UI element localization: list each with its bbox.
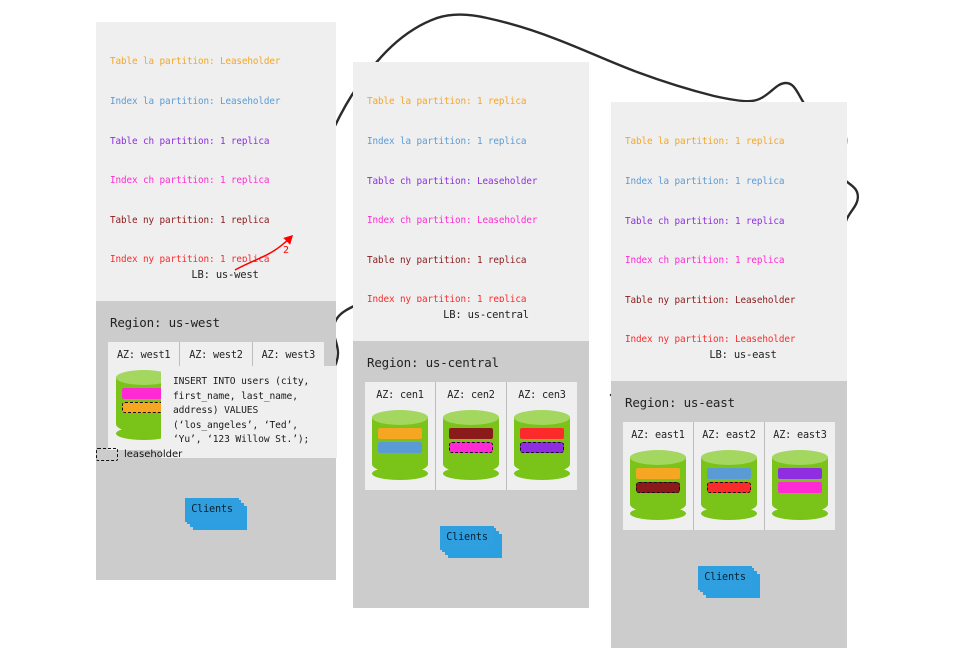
load-balancer-us-central[interactable]: LB: us-central <box>416 302 556 328</box>
clients-stack-us-east[interactable]: Clients <box>698 566 760 598</box>
replica-bar <box>636 468 680 479</box>
az-label: AZ: west3 <box>259 350 318 361</box>
region-us-west: Table la partition: Leaseholder Index la… <box>96 22 336 580</box>
partition-line: Table la partition: 1 replica <box>367 95 577 108</box>
partition-line: Index la partition: Leaseholder <box>110 95 324 108</box>
database-node-cen3[interactable] <box>514 410 570 480</box>
partition-line: Table la partition: Leaseholder <box>110 55 324 68</box>
arrow-step-label: 2 <box>283 245 289 256</box>
leaseholder-swatch-icon <box>96 448 118 461</box>
az-label: AZ: cen2 <box>442 390 500 401</box>
database-node-cen1[interactable] <box>372 410 428 480</box>
clients-button[interactable]: Clients <box>185 498 239 522</box>
region-panel-us-central: Region: us-central AZ: cen1 AZ: cen2 <box>353 341 589 608</box>
az-cell-cen3[interactable]: AZ: cen3 <box>506 382 577 490</box>
partition-status-us-west: Table la partition: Leaseholder Index la… <box>96 22 336 301</box>
az-strip-us-central: AZ: cen1 AZ: cen2 <box>365 382 577 490</box>
replica-bar <box>449 428 493 439</box>
database-node-east1[interactable] <box>630 450 686 520</box>
partition-line: Table la partition: 1 replica <box>625 135 835 148</box>
az-label: AZ: east3 <box>771 430 829 441</box>
az-label: AZ: east1 <box>629 430 687 441</box>
az-strip-us-east: AZ: east1 AZ: east2 <box>623 422 835 530</box>
database-node-east2[interactable] <box>701 450 757 520</box>
partition-line: Table ch partition: Leaseholder <box>367 175 577 188</box>
leaseholder-legend: leaseholder <box>96 448 182 461</box>
load-balancer-us-east[interactable]: LB: us-east <box>679 342 807 368</box>
partition-line: Index la partition: 1 replica <box>367 135 577 148</box>
partition-line: Index ch partition: 1 replica <box>625 254 835 267</box>
partition-line: Table ny partition: 1 replica <box>110 214 324 227</box>
az-cell-cen2[interactable]: AZ: cen2 <box>435 382 506 490</box>
replica-bar <box>378 428 422 439</box>
clients-stack-us-west[interactable]: Clients <box>185 498 247 530</box>
az-cell-east1[interactable]: AZ: east1 <box>623 422 693 530</box>
partition-line: Table ch partition: 1 replica <box>625 215 835 228</box>
replica-bar <box>778 482 822 493</box>
region-us-east: Table la partition: 1 replica Index la p… <box>611 102 847 648</box>
replica-bar-leaseholder <box>449 442 493 453</box>
load-balancer-us-west[interactable]: LB: us-west <box>163 262 287 288</box>
replica-bar-leaseholder <box>636 482 680 493</box>
az-label: AZ: west2 <box>186 350 245 361</box>
replica-bar <box>778 468 822 479</box>
replica-bar-leaseholder <box>122 402 166 413</box>
replica-bar-leaseholder <box>707 482 751 493</box>
partition-line: Table ny partition: Leaseholder <box>625 294 835 307</box>
partition-line: Table ny partition: 1 replica <box>367 254 577 267</box>
replica-bar <box>707 468 751 479</box>
region-title: Region: us-central <box>367 355 577 370</box>
database-node-east3[interactable] <box>772 450 828 520</box>
region-title: Region: us-east <box>625 395 835 410</box>
replica-bar <box>122 388 166 399</box>
partition-line: Index ch partition: 1 replica <box>110 174 324 187</box>
az-cell-east3[interactable]: AZ: east3 <box>764 422 835 530</box>
partition-line: Index la partition: 1 replica <box>625 175 835 188</box>
clients-button[interactable]: Clients <box>698 566 752 590</box>
az-label: AZ: cen1 <box>371 390 429 401</box>
az-label: AZ: cen3 <box>513 390 571 401</box>
sql-statement-box: INSERT INTO users (city, first_name, las… <box>161 366 337 458</box>
replica-bar-leaseholder <box>520 442 564 453</box>
az-label: AZ: east2 <box>700 430 758 441</box>
partition-line: Index ch partition: Leaseholder <box>367 214 577 227</box>
database-node-cen2[interactable] <box>443 410 499 480</box>
az-cell-east2[interactable]: AZ: east2 <box>693 422 764 530</box>
legend-label: leaseholder <box>124 449 182 460</box>
replica-bar <box>520 428 564 439</box>
replica-bar <box>378 442 422 453</box>
az-cell-cen1[interactable]: AZ: cen1 <box>365 382 435 490</box>
region-title: Region: us-west <box>110 315 324 330</box>
region-panel-us-east: Region: us-east AZ: east1 AZ: east2 <box>611 381 847 648</box>
region-us-central: Table la partition: 1 replica Index la p… <box>353 62 589 608</box>
clients-stack-us-central[interactable]: Clients <box>440 526 502 558</box>
partition-status-us-east: Table la partition: 1 replica Index la p… <box>611 102 847 381</box>
partition-line: Table ch partition: 1 replica <box>110 135 324 148</box>
clients-button[interactable]: Clients <box>440 526 494 550</box>
partition-status-us-central: Table la partition: 1 replica Index la p… <box>353 62 589 341</box>
az-label: AZ: west1 <box>114 350 173 361</box>
